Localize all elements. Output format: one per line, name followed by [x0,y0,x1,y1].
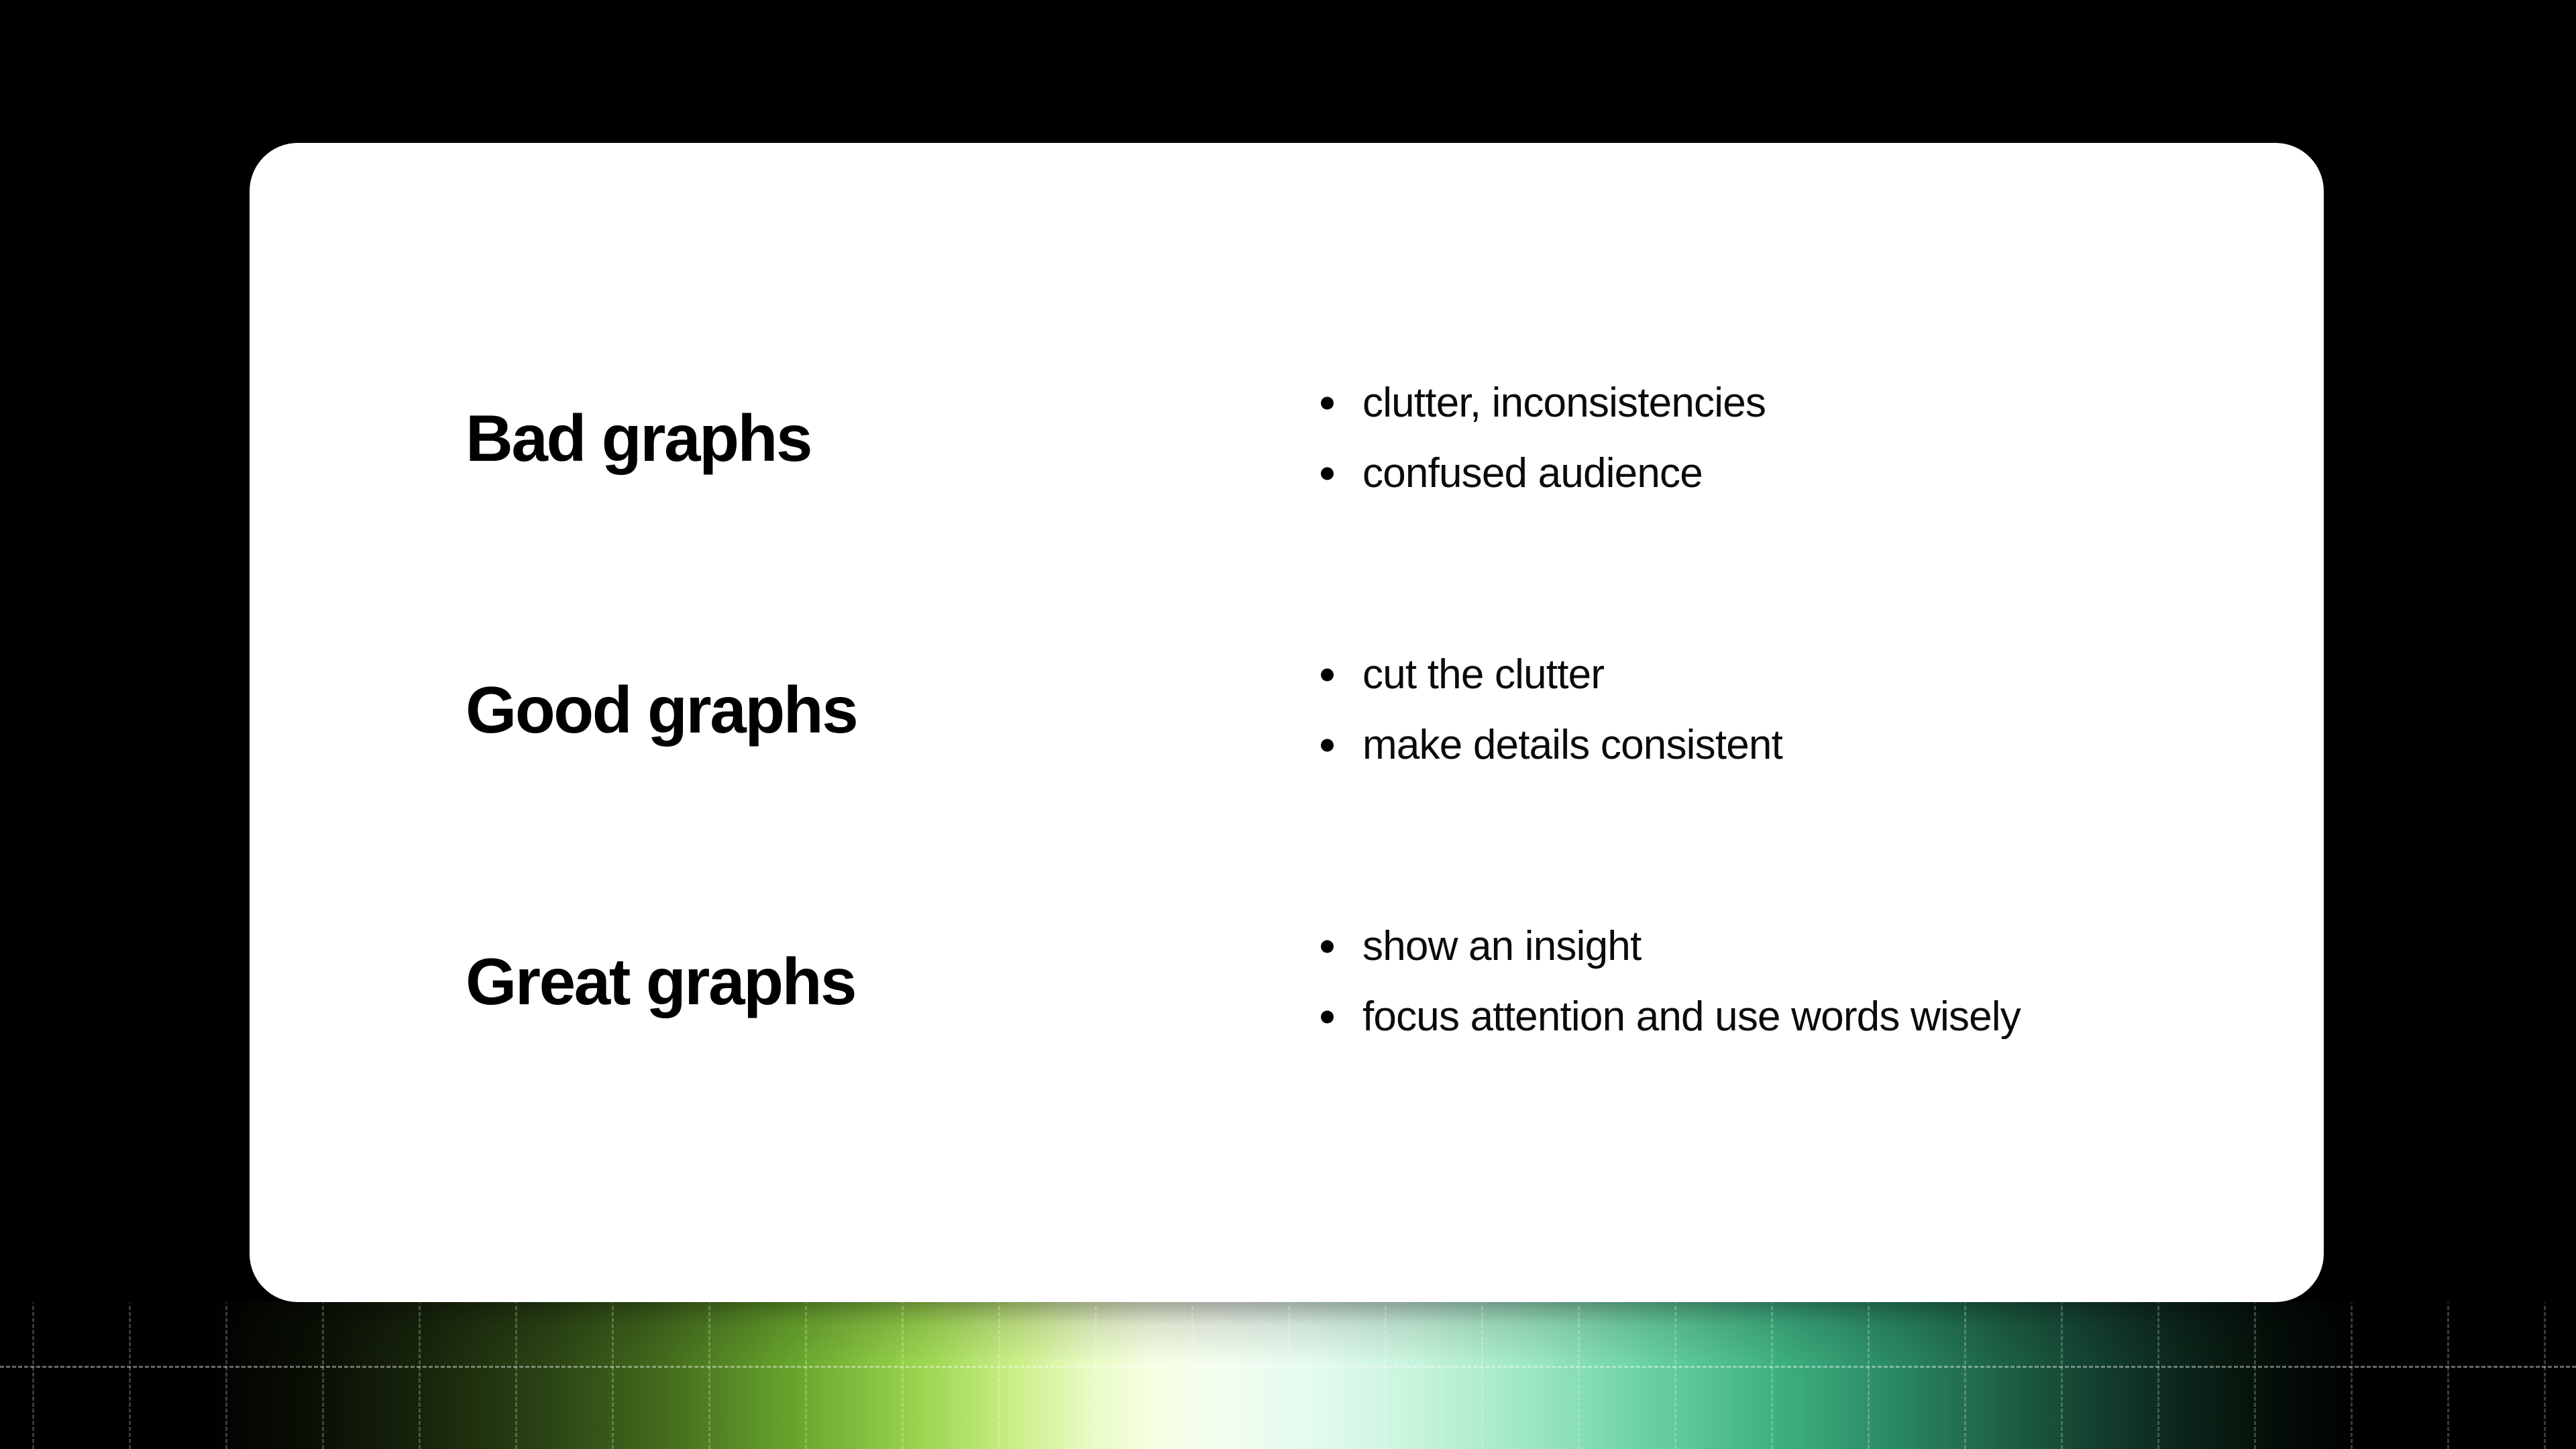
list-item: confused audience [1321,453,2277,494]
point-text: cut the clutter [1362,651,1604,698]
grid-line-vertical [129,0,131,1449]
grid-line-vertical [32,0,34,1449]
bullet-dot-icon [1321,396,1334,409]
point-list-great: show an insight focus attention and use … [1321,926,2277,1038]
topic-row: Good graphs cut the clutter make details… [466,609,2277,810]
point-list-bad: clutter, inconsistencies confused audien… [1321,382,2277,494]
list-item: show an insight [1321,926,2277,967]
topic-rows: Bad graphs clutter, inconsistencies conf… [466,337,2277,1082]
list-item: clutter, inconsistencies [1321,382,2277,424]
list-item: focus attention and use words wisely [1321,996,2277,1038]
grid-line-vertical [2544,0,2546,1449]
slide-stage: Bad graphs clutter, inconsistencies conf… [0,0,2576,1449]
topic-heading-bad: Bad graphs [466,404,1321,473]
point-text: confused audience [1362,450,1703,496]
grid-line-vertical [225,0,227,1449]
point-text: clutter, inconsistencies [1362,380,1766,426]
bullet-dot-icon [1321,467,1334,480]
topic-heading-good: Good graphs [466,676,1321,745]
bullet-dot-icon [1321,668,1334,681]
slide-card: Bad graphs clutter, inconsistencies conf… [250,143,2324,1302]
topic-row: Bad graphs clutter, inconsistencies conf… [466,337,2277,539]
grid-line-vertical [2447,0,2449,1449]
bullet-dot-icon [1321,739,1334,751]
point-text: make details consistent [1362,722,1782,768]
bullet-dot-icon [1321,940,1334,953]
gradient-vignette [0,1301,2576,1449]
topic-heading-great: Great graphs [466,947,1321,1016]
list-item: cut the clutter [1321,654,2277,696]
point-list-good: cut the clutter make details consistent [1321,654,2277,766]
point-text: focus attention and use words wisely [1362,994,2021,1040]
topic-row: Great graphs show an insight focus atten… [466,881,2277,1082]
point-text: show an insight [1362,923,1641,969]
list-item: make details consistent [1321,724,2277,766]
gradient-glow-band [0,1301,2576,1449]
grid-line-vertical [2351,0,2353,1449]
bullet-dot-icon [1321,1010,1334,1023]
